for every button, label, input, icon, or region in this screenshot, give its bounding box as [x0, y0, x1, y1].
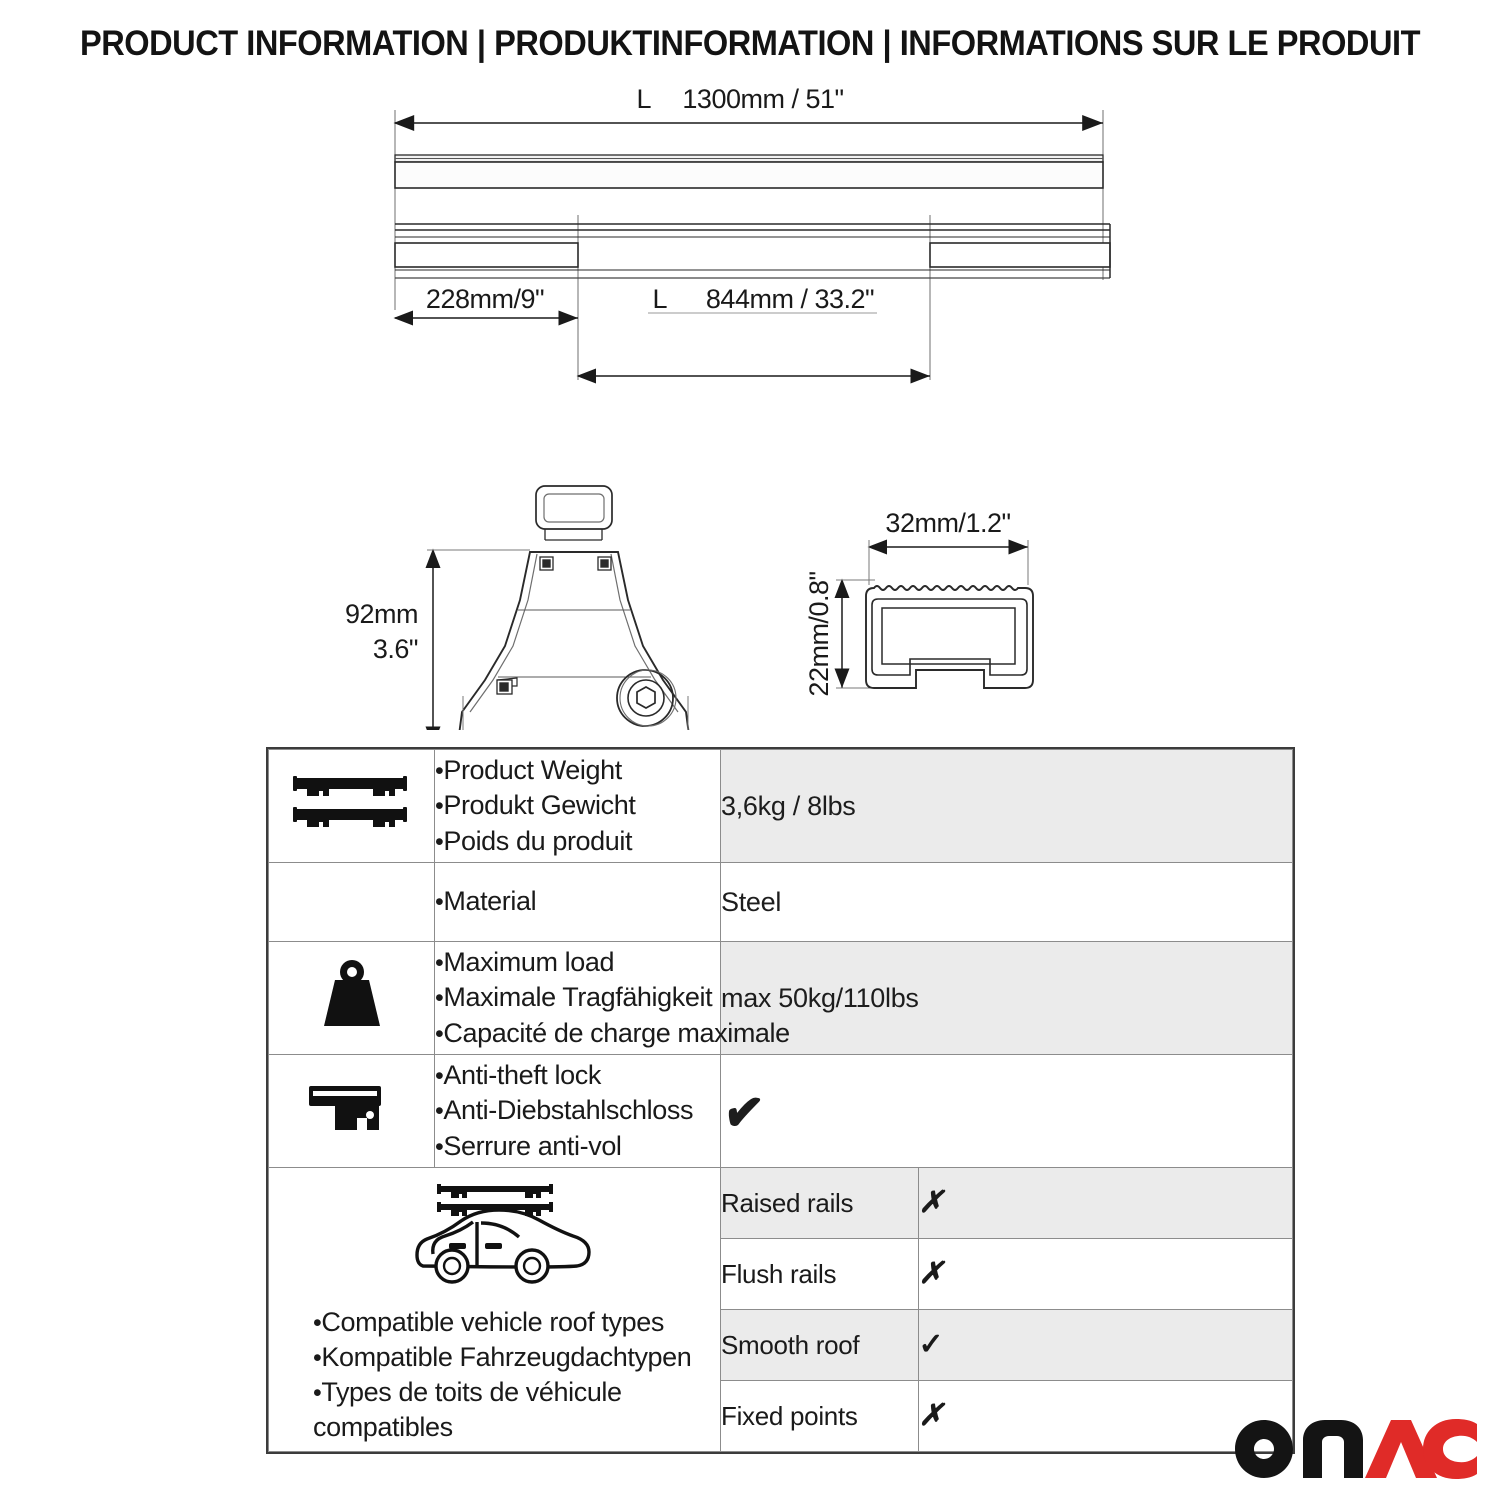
logo-red-part: [1365, 1419, 1477, 1479]
weight-icon-cell: [269, 942, 435, 1055]
spec-label: Material: [443, 886, 536, 916]
roof-type-row-flush-rails: Flush rails ✗: [721, 1239, 1292, 1310]
table-row: •Maximum load •Maximale Tragfähigkeit •C…: [269, 942, 1293, 1055]
roof-type-label: Flush rails: [721, 1239, 918, 1310]
material-value: Steel: [721, 863, 1293, 942]
omac-logo: [1233, 1418, 1479, 1480]
product-spec-table: •Product Weight •Produkt Gewicht •Poids …: [266, 747, 1295, 1454]
roof-bars-icon: [277, 831, 427, 848]
span-value: 844mm / 33.2": [706, 284, 874, 314]
table-row: •Product Weight •Produkt Gewicht •Poids …: [269, 750, 1293, 863]
foot-height-value-line2: 3.6": [373, 634, 418, 664]
page-title: PRODUCT INFORMATION | PRODUKTINFORMATION…: [53, 24, 1448, 64]
roof-type-label: Smooth roof: [721, 1310, 918, 1381]
bar-length-value: 1300mm / 51": [682, 84, 843, 114]
bar-length-label: L: [636, 84, 651, 114]
spec-label: Capacité de charge maximale: [443, 1018, 789, 1048]
overhang-value: 228mm/9": [426, 284, 544, 314]
roof-types-list: Raised rails ✗ Flush rails ✗ Smooth roof…: [721, 1168, 1293, 1452]
checkmark-icon: ✓: [919, 1330, 944, 1360]
roof-type-row-fixed-points: Fixed points ✗: [721, 1381, 1292, 1452]
spec-label: Maximum load: [443, 947, 614, 977]
page-header: PRODUCT INFORMATION | PRODUKTINFORMATION…: [0, 24, 1500, 64]
checkmark-icon: ✔: [721, 1084, 766, 1143]
profile-width-value: 32mm/1.2": [885, 508, 1010, 538]
spec-label: Poids du produit: [443, 826, 632, 856]
maximum-load-value: max 50kg/110lbs: [721, 942, 1293, 1055]
weight-icon: [307, 1023, 397, 1040]
table-row: •Material Steel: [269, 863, 1293, 942]
lock-icon-cell: [269, 1055, 435, 1168]
material-labels: •Material: [435, 863, 721, 942]
spec-label: Anti-Diebstahlschloss: [443, 1095, 693, 1125]
lock-icon: [297, 1131, 407, 1148]
anti-theft-lock-labels: •Anti-theft lock •Anti-Diebstahlschloss …: [435, 1055, 721, 1168]
product-weight-labels: •Product Weight •Produkt Gewicht •Poids …: [435, 750, 721, 863]
table-row: •Anti-theft lock •Anti-Diebstahlschloss …: [269, 1055, 1293, 1168]
roof-types-label: Types de toits de véhicule compatibles: [313, 1377, 622, 1442]
spec-label: Serrure anti-vol: [443, 1131, 621, 1161]
roof-type-label: Fixed points: [721, 1381, 918, 1452]
product-weight-value: 3,6kg / 8lbs: [721, 750, 1293, 863]
technical-drawing: L 1300mm / 51" 228mm/9" L 844mm / 33.2" …: [0, 80, 1500, 730]
cross-icon: ✗: [919, 1401, 944, 1431]
cross-icon: ✗: [919, 1188, 944, 1218]
spec-label: Product Weight: [443, 755, 622, 785]
anti-theft-lock-value: ✔: [721, 1055, 1293, 1168]
spec-label: Produkt Gewicht: [443, 790, 635, 820]
maximum-load-labels: •Maximum load •Maximale Tragfähigkeit •C…: [435, 942, 721, 1055]
span-label: L: [652, 284, 667, 314]
logo-dark-part: [1235, 1420, 1363, 1478]
table-row-roof-types: •Compatible vehicle roof types •Kompatib…: [269, 1168, 1293, 1452]
roof-type-mark: ✗: [918, 1168, 1292, 1239]
roof-type-mark: ✓: [918, 1310, 1292, 1381]
roof-type-label: Raised rails: [721, 1168, 918, 1239]
material-icon-cell: [269, 863, 435, 942]
roof-type-mark: ✗: [918, 1239, 1292, 1310]
roof-types-label: Compatible vehicle roof types: [321, 1307, 664, 1337]
foot-height-value-line1: 92mm: [345, 599, 418, 629]
profile-height-value: 22mm/0.8": [804, 571, 834, 696]
spec-label: Maximale Tragfähigkeit: [443, 982, 712, 1012]
roof-type-row-smooth-roof: Smooth roof ✓: [721, 1310, 1292, 1381]
roof-bars-icon-cell: [269, 750, 435, 863]
spec-label: Anti-theft lock: [443, 1060, 601, 1090]
roof-types-description: •Compatible vehicle roof types •Kompatib…: [269, 1168, 721, 1452]
car-with-roof-rack-icon: [269, 1174, 720, 1299]
cross-icon: ✗: [919, 1259, 944, 1289]
roof-types-label: Kompatible Fahrzeugdachtypen: [321, 1342, 691, 1372]
roof-type-row-raised-rails: Raised rails ✗: [721, 1168, 1292, 1239]
